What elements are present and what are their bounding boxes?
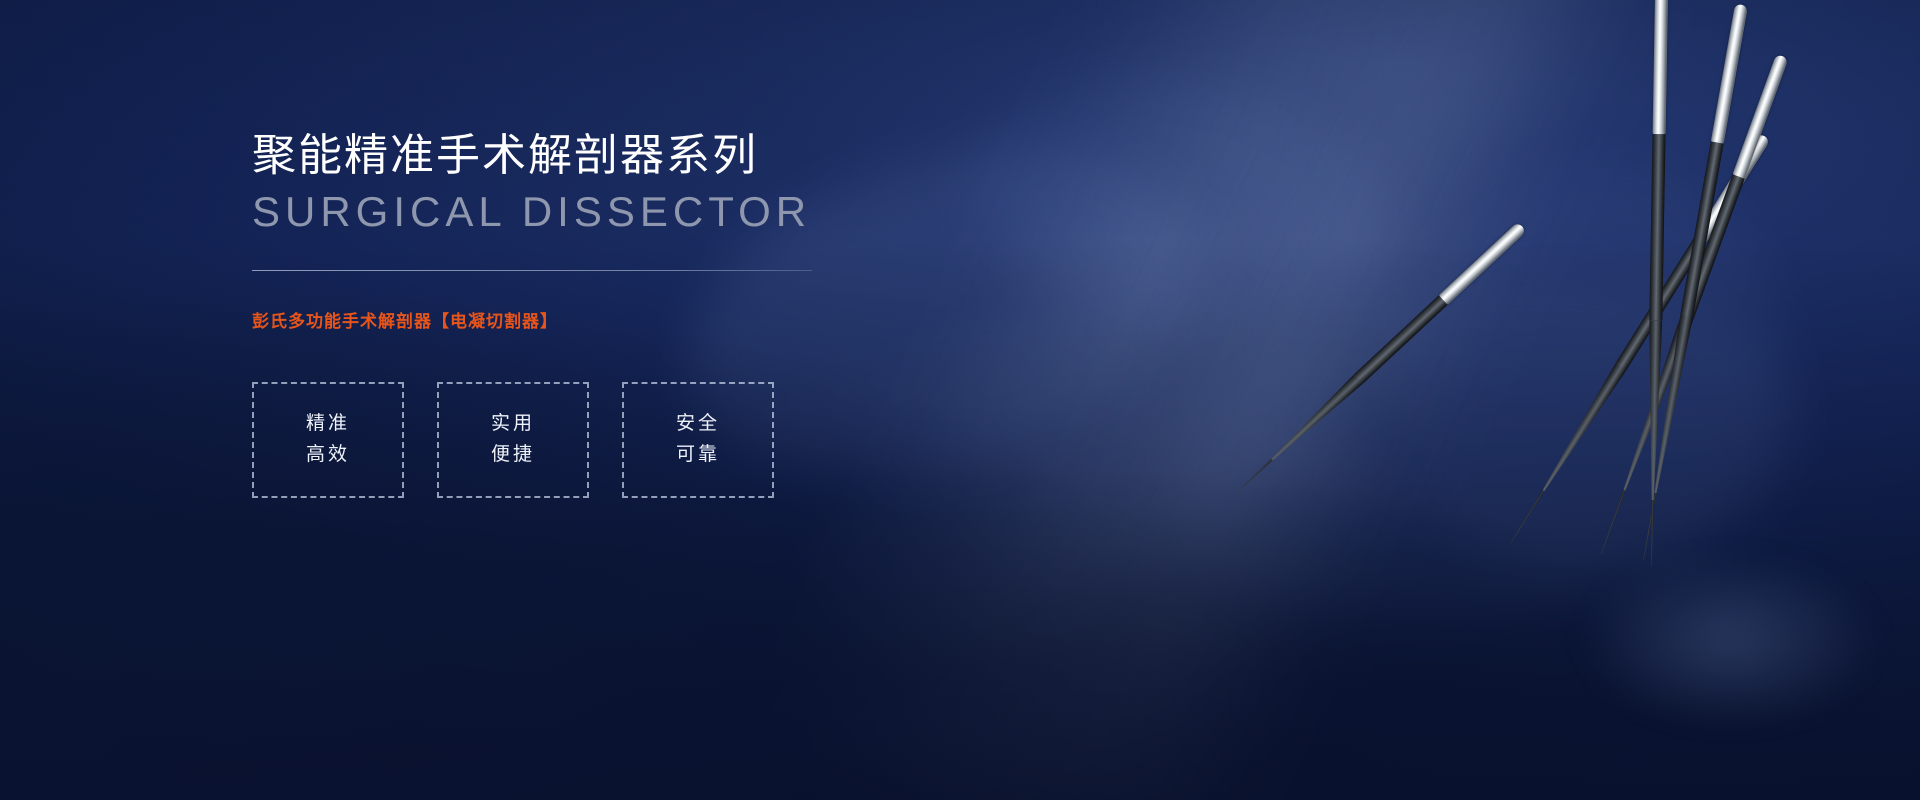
banner-content: 聚能精准手术解剖器系列 SURGICAL DISSECTOR 彭氏多功能手术解剖… <box>252 130 872 498</box>
feature-box-1-line2: 高效 <box>306 445 350 466</box>
feature-box-3-line1: 安全 <box>676 414 720 435</box>
feature-box-group: 精准 高效 实用 便捷 安全 可靠 <box>252 382 872 498</box>
product-name-highlight: 彭氏多功能手术解剖器【电凝切割器】 <box>252 307 872 332</box>
feature-box-1[interactable]: 精准 高效 <box>252 382 404 498</box>
page-subtitle-english: SURGICAL DISSECTOR <box>252 188 872 236</box>
feature-box-2-line2: 便捷 <box>491 445 535 466</box>
divider <box>252 270 812 271</box>
feature-box-2[interactable]: 实用 便捷 <box>437 382 589 498</box>
product-hero-banner: 聚能精准手术解剖器系列 SURGICAL DISSECTOR 彭氏多功能手术解剖… <box>0 0 1920 800</box>
feature-box-2-line1: 实用 <box>491 414 535 435</box>
feature-box-3-line2: 可靠 <box>676 445 720 466</box>
tool-tip-glow <box>1520 520 1920 760</box>
page-title: 聚能精准手术解剖器系列 <box>252 130 872 182</box>
feature-box-3[interactable]: 安全 可靠 <box>622 382 774 498</box>
feature-box-1-line1: 精准 <box>306 414 350 435</box>
